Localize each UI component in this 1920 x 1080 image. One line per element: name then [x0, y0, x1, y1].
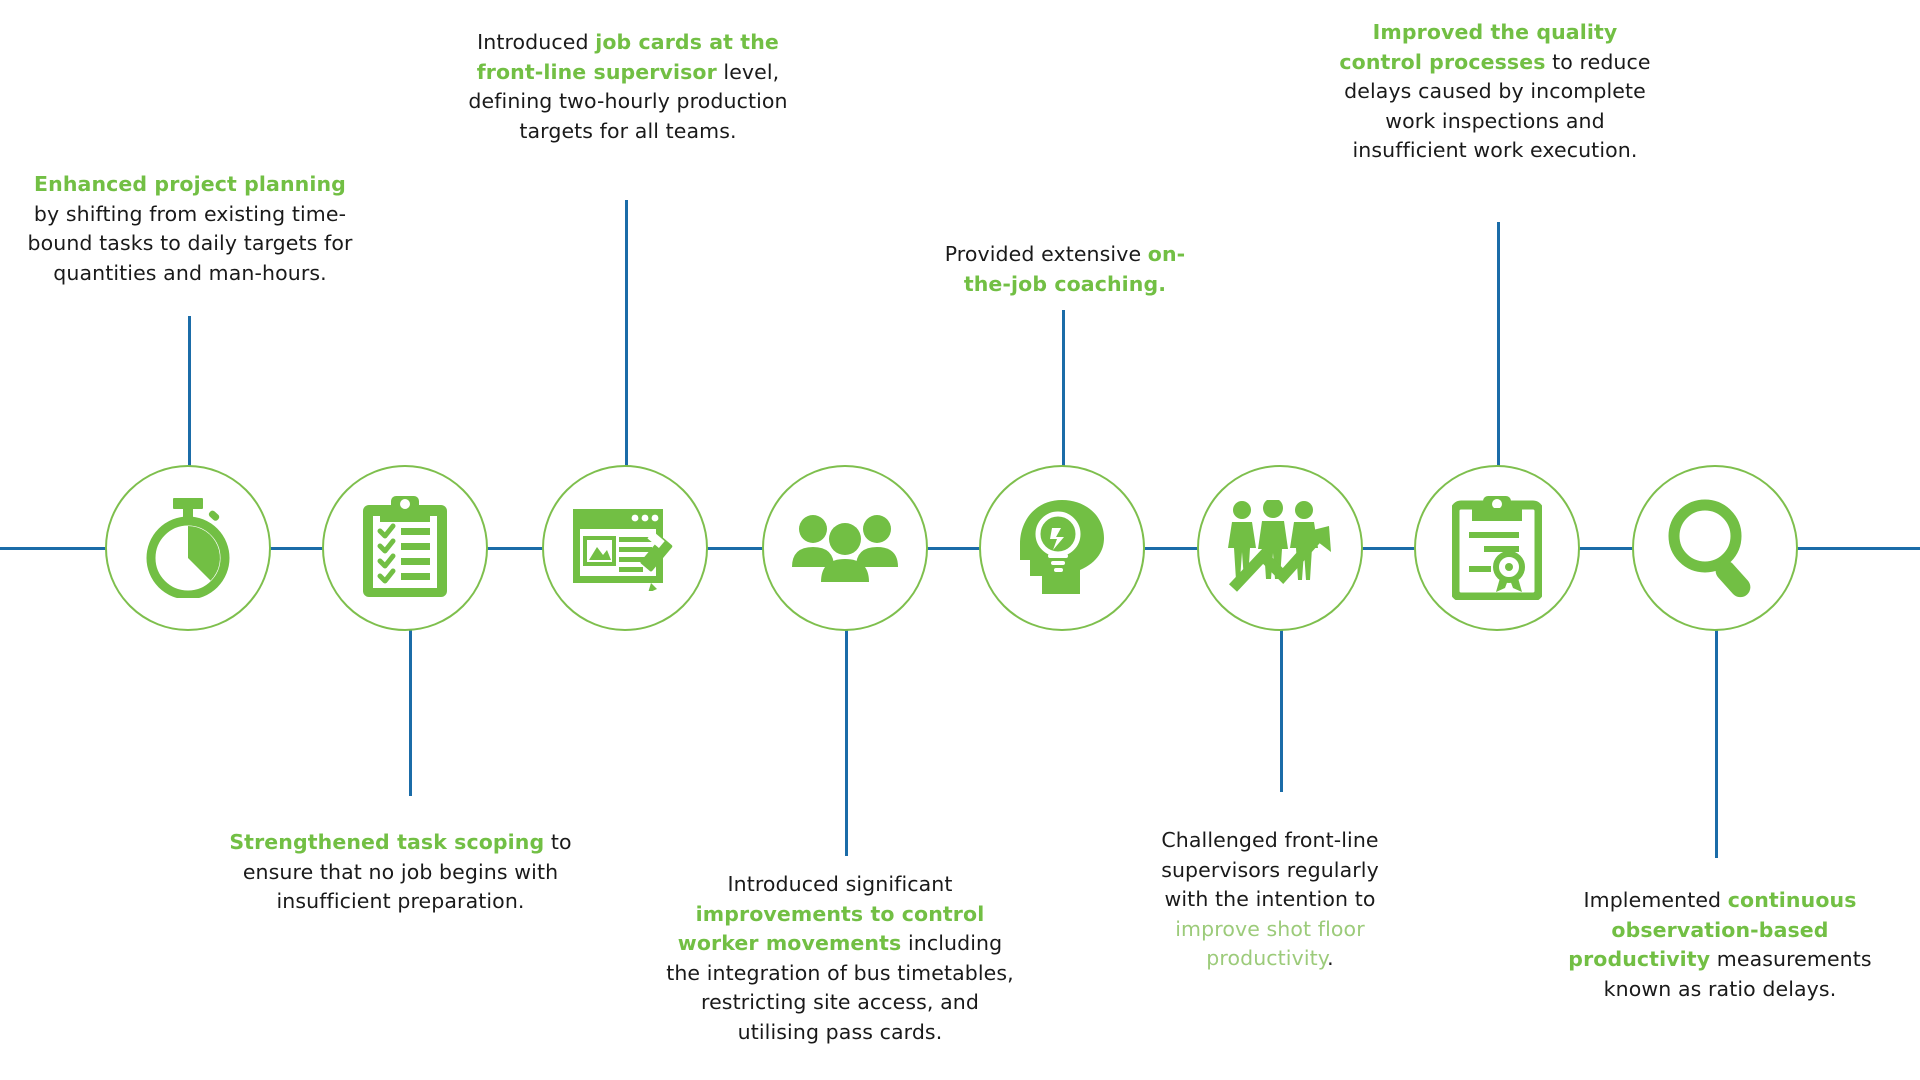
callout-ratio-delays: Implemented continuous observation-based…: [1550, 886, 1890, 1004]
node-job-card-editor[interactable]: [542, 465, 708, 631]
node-clipboard-award[interactable]: [1414, 465, 1580, 631]
node-stopwatch[interactable]: [105, 465, 271, 631]
callout-segment: Introduced: [477, 30, 595, 54]
job-card-editor-icon: [573, 505, 677, 591]
clipboard-award-icon: [1452, 496, 1542, 600]
callout-segment: by shifting from existing time-bound tas…: [27, 202, 352, 285]
callout-segment: Challenged front-line supervisors regula…: [1161, 828, 1379, 911]
callout-quality-control: Improved the quality control processes t…: [1335, 18, 1655, 166]
callout-segment: .: [1327, 946, 1334, 970]
infographic-canvas: Enhanced project planning by shifting fr…: [0, 0, 1920, 1080]
callout-segment: Strengthened task scoping: [229, 830, 544, 854]
callout-challenged-supervisors: Challenged front-line supervisors regula…: [1145, 826, 1395, 974]
callout-task-scoping: Strengthened task scoping to ensure that…: [228, 828, 573, 917]
callout-segment: Enhanced project planning: [34, 172, 346, 196]
node-magnifier[interactable]: [1632, 465, 1798, 631]
stopwatch-icon: [140, 498, 236, 598]
node-clipboard-checklist[interactable]: [322, 465, 488, 631]
node-people-growth-chart[interactable]: [1197, 465, 1363, 631]
people-growth-chart-icon: [1225, 500, 1335, 596]
callout-project-planning: Enhanced project planning by shifting fr…: [20, 170, 360, 288]
clipboard-checklist-icon: [360, 496, 450, 600]
callout-segment: Provided extensive: [945, 242, 1148, 266]
node-head-lightbulb[interactable]: [979, 465, 1145, 631]
people-group-icon: [791, 512, 899, 584]
magnifier-icon: [1665, 498, 1765, 598]
callout-job-cards: Introduced job cards at the front-line s…: [468, 28, 788, 146]
node-people-group[interactable]: [762, 465, 928, 631]
callout-coaching: Provided extensive on-the-job coaching.: [925, 240, 1205, 299]
head-lightbulb-icon: [1014, 498, 1110, 598]
callout-segment: improve shot floor productivity: [1175, 917, 1364, 971]
callout-segment: Introduced significant: [727, 872, 952, 896]
callout-worker-movements: Introduced significant improvements to c…: [660, 870, 1020, 1047]
callout-segment: Implemented: [1583, 888, 1727, 912]
